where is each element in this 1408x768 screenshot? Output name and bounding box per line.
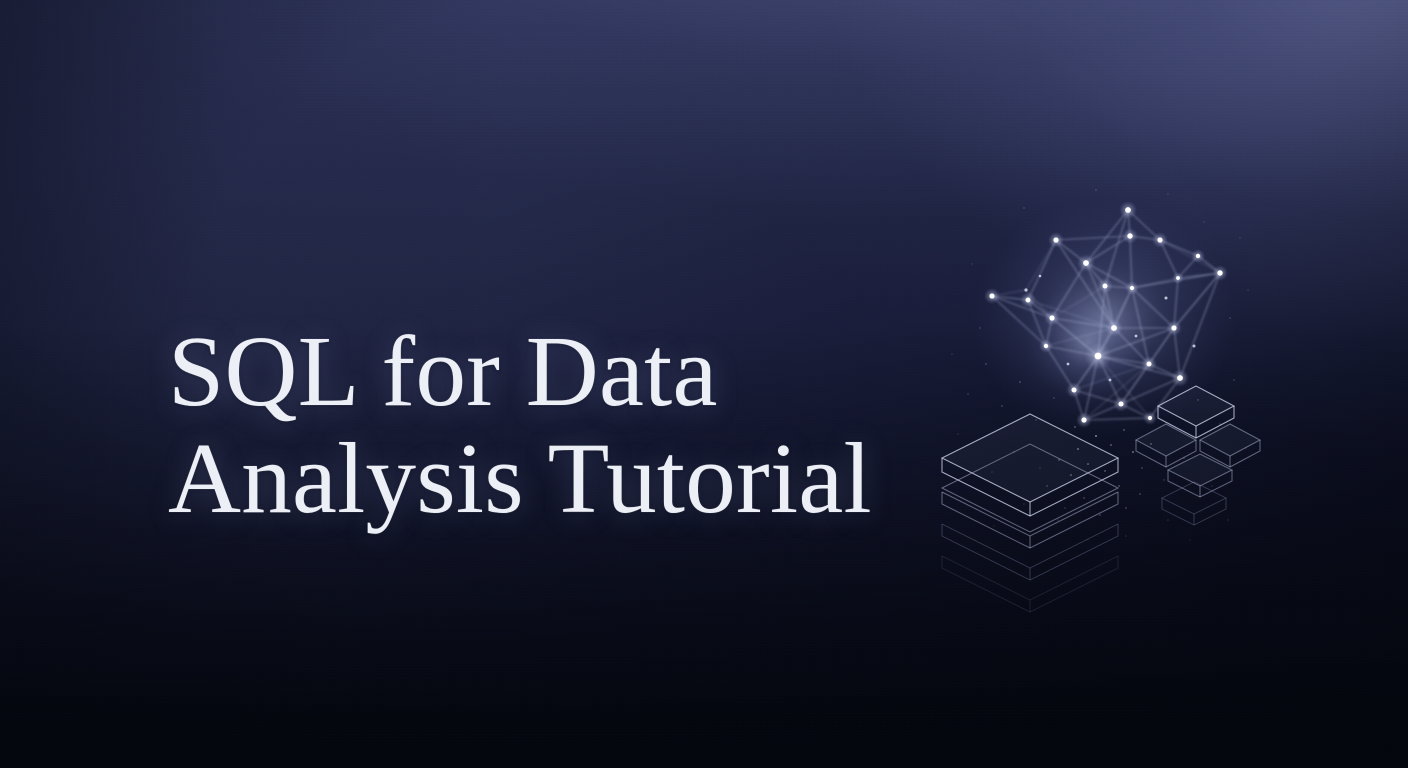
- page-title-line-2: Analysis Tutorial: [168, 425, 928, 532]
- hero-slide: SQL for Data Analysis Tutorial: [0, 0, 1408, 768]
- data-network-illustration: [928, 168, 1268, 556]
- page-title-line-1: SQL for Data: [168, 318, 928, 425]
- page-title: SQL for Data Analysis Tutorial: [168, 318, 928, 532]
